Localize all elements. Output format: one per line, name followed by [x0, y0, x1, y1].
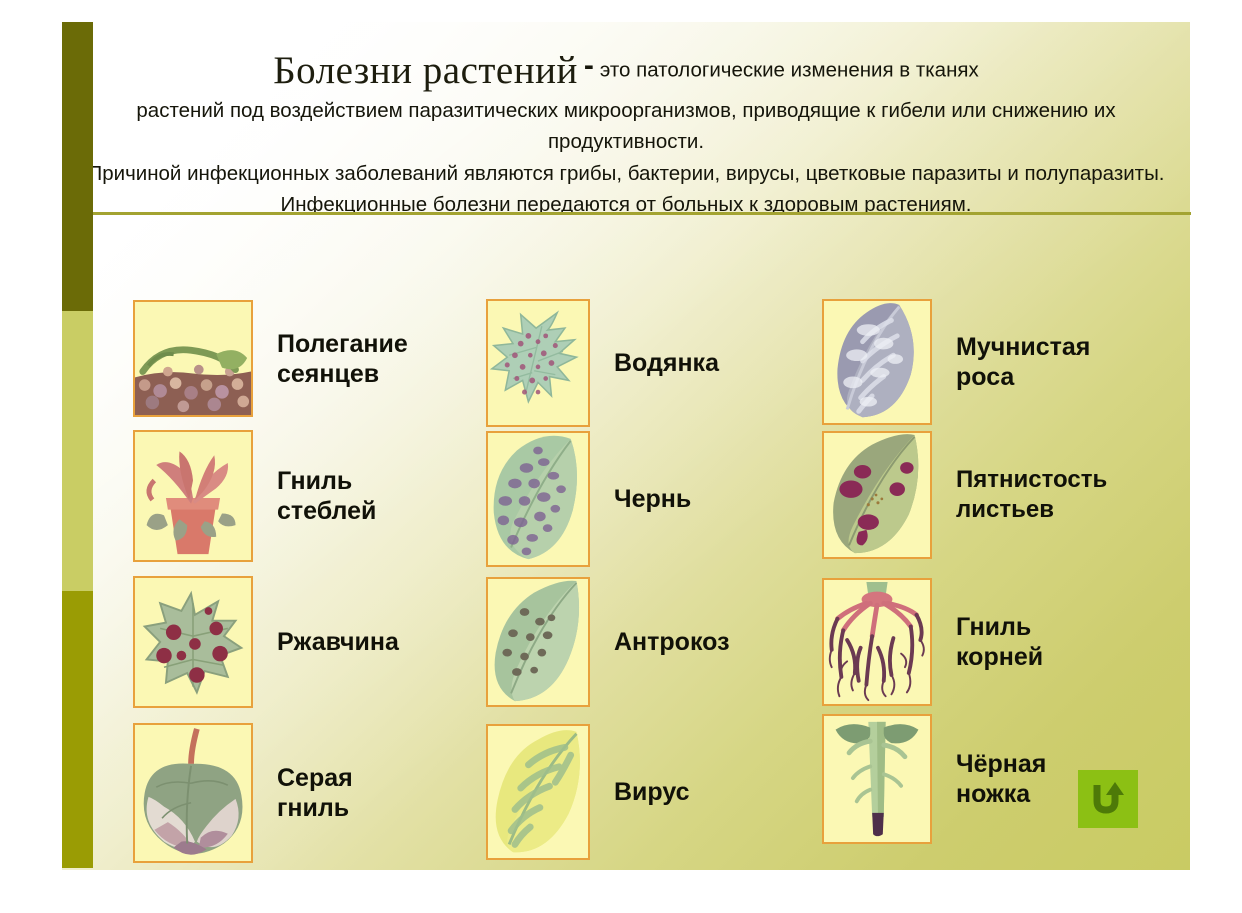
disease-label: Антрокоз	[614, 627, 730, 657]
horizontal-rule	[86, 212, 1191, 215]
disease-label: Водянка	[614, 348, 719, 378]
disease-item[interactable]: Чёрная ножка	[822, 714, 1046, 844]
disease-label: Пятнистость листьев	[956, 465, 1107, 525]
disease-item[interactable]: Вирус	[486, 724, 690, 860]
disease-label: Вирус	[614, 777, 690, 807]
leaf-spot-illustration	[822, 431, 932, 559]
heading-block: Болезни растений-это патологические изме…	[62, 48, 1190, 220]
powdery-mildew-leaf-illustration	[822, 299, 932, 425]
u-turn-arrow-icon	[1088, 779, 1128, 819]
slide-content: Болезни растений-это патологические изме…	[62, 22, 1190, 870]
disease-label: Ржавчина	[277, 627, 399, 657]
disease-label: Серая гниль	[277, 763, 353, 823]
sidebar-segment-middle	[62, 311, 93, 591]
disease-item[interactable]: Гниль корней	[822, 578, 1043, 706]
title-lead-text: это патологические изменения в тканях	[600, 59, 979, 82]
disease-item[interactable]: Гниль стеблей	[133, 430, 376, 562]
sidebar-bar	[62, 22, 93, 868]
intro-paragraph-1: растений под воздействием паразитических…	[62, 95, 1190, 157]
return-button[interactable]	[1078, 770, 1138, 828]
blackleg-stem-illustration	[822, 714, 932, 844]
disease-item[interactable]: Пятнистость листьев	[822, 431, 1107, 559]
disease-item[interactable]: Водянка	[486, 299, 719, 427]
disease-label: Мучнистая роса	[956, 332, 1090, 392]
disease-item[interactable]: Ржавчина	[133, 576, 399, 708]
seedling-damping-off-illustration	[133, 300, 253, 417]
disease-item[interactable]: Чернь	[486, 431, 691, 567]
disease-label: Чернь	[614, 484, 691, 514]
disease-label: Полегание сеянцев	[277, 329, 408, 389]
sooty-mould-leaf-illustration	[486, 431, 590, 567]
sidebar-segment-bottom	[62, 591, 93, 868]
root-rot-illustration	[822, 578, 932, 706]
disease-item[interactable]: Серая гниль	[133, 723, 353, 863]
title-dash: -	[578, 49, 600, 82]
sidebar-segment-top	[62, 22, 93, 311]
grey-mould-leaf-illustration	[133, 723, 253, 863]
disease-item[interactable]: Антрокоз	[486, 577, 730, 707]
anthracnose-leaf-illustration	[486, 577, 590, 707]
dropsy-maple-leaf-illustration	[486, 299, 590, 427]
disease-label: Гниль корней	[956, 612, 1043, 672]
page-title: Болезни растений	[273, 49, 578, 92]
intro-paragraph-2: Причиной инфекционных заболеваний являют…	[62, 158, 1190, 220]
disease-item[interactable]: Мучнистая роса	[822, 299, 1090, 425]
disease-item[interactable]: Полегание сеянцев	[133, 300, 408, 417]
disease-label: Гниль стеблей	[277, 466, 376, 526]
virus-mosaic-leaf-illustration	[486, 724, 590, 860]
title-line: Болезни растений-это патологические изме…	[62, 48, 1190, 93]
rust-spotted-leaf-illustration	[133, 576, 253, 708]
disease-label: Чёрная ножка	[956, 749, 1046, 809]
potted-plant-stem-rot-illustration	[133, 430, 253, 562]
slide: Болезни растений-это патологические изме…	[62, 22, 1190, 870]
